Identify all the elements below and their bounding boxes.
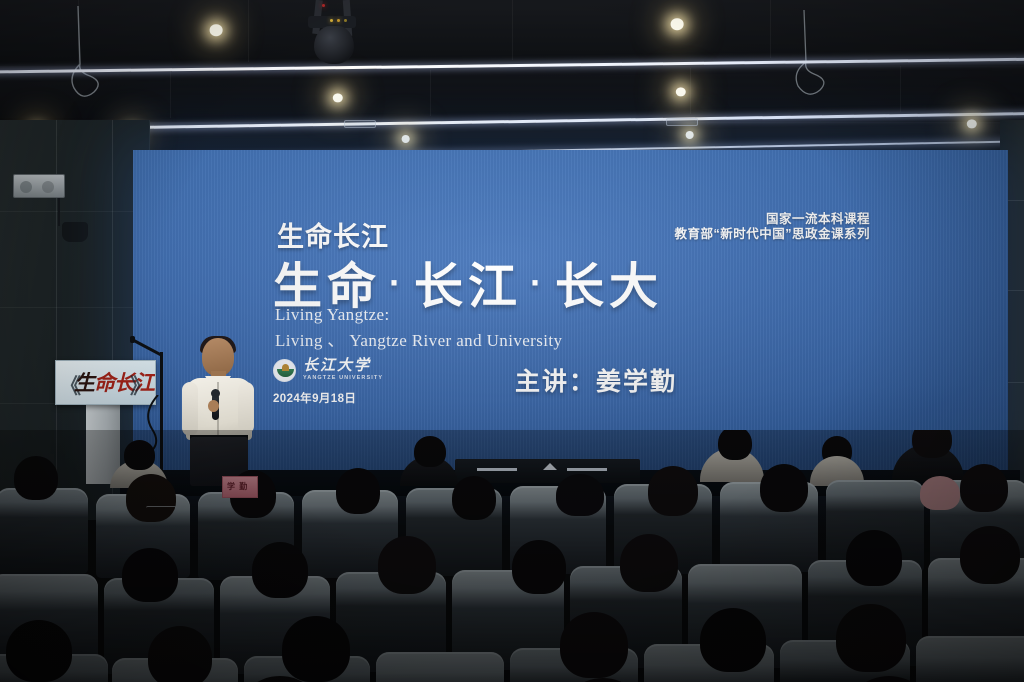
university-name-cn: 长江大学	[303, 359, 383, 374]
slide-small-title: 生命长江	[277, 215, 389, 254]
audience-head	[836, 604, 906, 672]
audience-area	[0, 430, 1024, 682]
slide-kicker: 国家一流本科课程 教育部“新时代中国”思政金课系列	[674, 212, 870, 243]
slide-english-line-2: Living 、 Yangtze River and University	[275, 326, 562, 351]
lecture-hall-photo: 国家一流本科课程 教育部“新时代中国”思政金课系列 生命长江 生命·长江·长大 …	[0, 0, 1024, 682]
presenter-hand	[208, 400, 219, 412]
university-name-en: YANGTZE UNIVERSITY	[303, 376, 383, 382]
audience-head	[512, 540, 566, 594]
ceiling-lamp-housing	[666, 118, 698, 126]
presenter-right-arm	[238, 382, 254, 434]
seat[interactable]	[0, 488, 88, 574]
audience-head	[452, 476, 496, 520]
ceiling-seam	[770, 0, 771, 58]
seat[interactable]	[376, 652, 504, 682]
audience-head	[336, 468, 380, 514]
audience-head	[378, 536, 436, 594]
ceiling-spotlight	[672, 84, 690, 100]
university-logo-text: 长江大学 YANGTZE UNIVERSITY	[303, 359, 383, 382]
speaker-label: 主讲：	[515, 368, 596, 396]
ceiling-seam	[690, 68, 691, 114]
audience-head	[846, 530, 902, 586]
audience-head	[282, 616, 350, 682]
title-separator-dot: ·	[381, 262, 414, 303]
audience-head	[960, 526, 1020, 584]
ceiling-seam	[430, 70, 431, 116]
ceiling-spotlight	[398, 132, 413, 146]
audience-head	[414, 436, 446, 467]
audience-head	[648, 466, 698, 516]
wall-camera-icon	[62, 222, 88, 242]
ceiling-seam	[248, 0, 249, 62]
placard-text: 学 勤	[227, 481, 248, 492]
audience-head	[700, 608, 766, 672]
audience-cap-icon	[556, 474, 604, 516]
ceiling-spotlight	[963, 116, 981, 132]
title-part-1: 生命	[273, 260, 381, 314]
slide-speaker-line: 主讲：姜学勤	[515, 362, 677, 398]
audience-head	[760, 464, 808, 512]
moving-head-projector-icon	[300, 0, 370, 66]
wall-cable	[58, 198, 60, 226]
title-separator-dot: ·	[522, 262, 555, 303]
ceiling-band-middle	[0, 66, 1024, 118]
ceiling-spotlight	[682, 128, 697, 142]
university-logo: 长江大学 YANGTZE UNIVERSITY	[273, 359, 383, 382]
led-presentation-screen[interactable]: 国家一流本科课程 教育部“新时代中国”思政金课系列 生命长江 生命·长江·长大 …	[133, 150, 1008, 470]
ceiling	[0, 0, 1024, 152]
audience-head	[6, 620, 72, 682]
hanging-cable-icon	[60, 6, 120, 114]
audience-head	[148, 626, 212, 682]
microphone-head-icon	[130, 336, 135, 343]
ceiling-seam	[900, 66, 901, 112]
audience-pink-cap-icon	[920, 476, 960, 510]
wall-speaker-vent-icon	[13, 174, 65, 198]
university-emblem-icon	[273, 359, 296, 382]
ceiling-lamp-housing	[344, 120, 376, 128]
audience-head	[912, 430, 952, 458]
audience-head	[252, 542, 308, 598]
audience-head	[560, 612, 628, 678]
ceiling-seam	[512, 0, 513, 60]
ceiling-spotlight	[329, 90, 347, 106]
slide-main-title: 生命·长江·长大	[273, 247, 663, 318]
audience-head	[960, 464, 1008, 512]
audience-head	[124, 440, 155, 470]
audience-head	[122, 548, 178, 602]
slide-date: 2024年9月18日	[273, 390, 356, 406]
presenter-left-arm	[182, 382, 198, 436]
ceiling-spotlight	[666, 14, 688, 34]
speaker-name: 姜学勤	[596, 368, 677, 396]
audience-head	[14, 456, 58, 500]
slide-content: 国家一流本科课程 教育部“新时代中国”思政金课系列 生命长江 生命·长江·长大 …	[133, 150, 1008, 470]
ceiling-seam	[170, 70, 171, 118]
kicker-line-2: 教育部“新时代中国”思政金课系列	[674, 227, 870, 242]
seat[interactable]	[916, 636, 1024, 682]
kicker-line-1: 国家一流本科课程	[674, 212, 870, 227]
audience-head	[718, 430, 752, 460]
title-part-3: 长大	[555, 260, 663, 314]
slide-english-line-1: Living Yangtze:	[275, 305, 390, 325]
audience-glasses-icon	[146, 506, 176, 510]
audience-head	[126, 474, 176, 522]
audience-placard: 学 勤	[222, 476, 258, 498]
title-part-2: 长江	[414, 260, 522, 314]
audience-head	[620, 534, 678, 592]
ceiling-spotlight	[205, 20, 227, 40]
